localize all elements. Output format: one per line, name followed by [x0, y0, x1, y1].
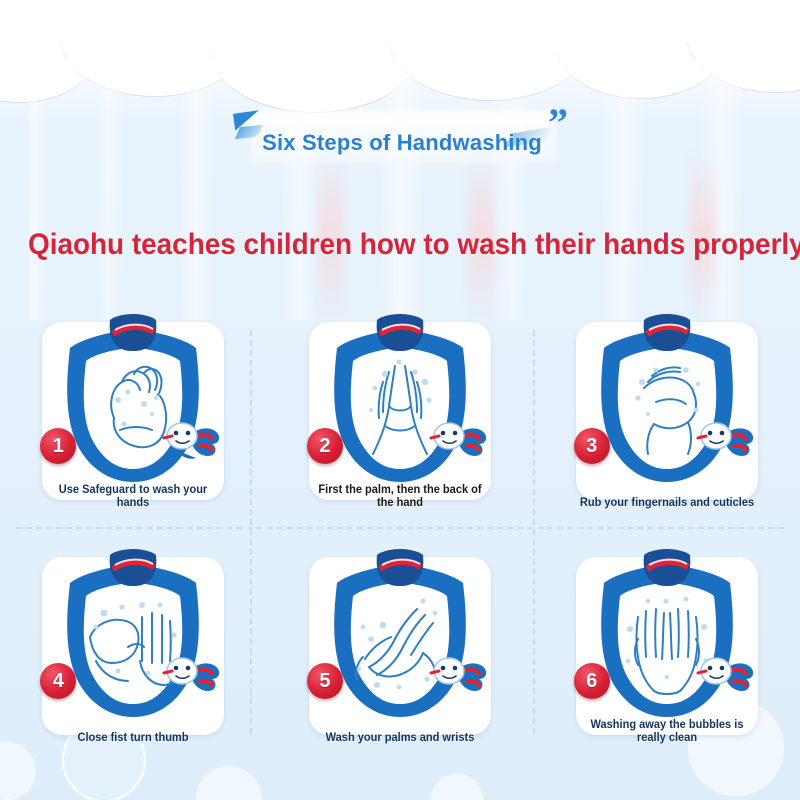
step-card-3[interactable]: 3 Rub your fingernails and cuticles [572, 312, 762, 508]
step-number-badge: 6 [574, 663, 610, 699]
cloud-lobe [210, 0, 420, 112]
safeguard-emblem-icon [639, 312, 695, 352]
step-card-6[interactable]: 6 Washing away the bubbles is really cle… [572, 547, 762, 743]
light-streaks [0, 60, 800, 320]
step-cell-4: 4 Close fist turn thumb [0, 541, 267, 776]
step-number-badge: 1 [40, 428, 76, 464]
qiaohu-mascot-icon [427, 406, 489, 462]
step-caption: Wash your palms and wrists [309, 732, 491, 745]
handwashing-poster: ” Six Steps of Handwashing Qiaohu teache… [0, 0, 800, 800]
qiaohu-mascot-icon [694, 406, 756, 462]
qiaohu-mascot-icon [160, 406, 222, 462]
ribbon-title: Six Steps of Handwashing [232, 130, 572, 156]
step-cell-1: 1 Use Safeguard to wash your hands [0, 306, 267, 541]
step-caption: Rub your fingernails and cuticles [575, 497, 757, 510]
step-cell-2: 2 First the palm, then the back of the h… [267, 306, 534, 541]
step-cell-6: 6 Washing away the bubbles is really cle… [533, 541, 800, 776]
safeguard-emblem-icon [372, 312, 428, 352]
qiaohu-mascot-icon [160, 641, 222, 697]
step-card-4[interactable]: 4 Close fist turn thumb [38, 547, 228, 743]
step-caption: Close fist turn thumb [42, 732, 224, 745]
step-caption: Use Safeguard to wash your hands [42, 484, 224, 510]
step-cell-5: 5 Wash your palms and wrists [267, 541, 534, 776]
safeguard-emblem-icon [105, 547, 161, 587]
step-number-badge: 2 [307, 428, 343, 464]
step-cell-3: 3 Rub your fingernails and cuticles [533, 306, 800, 541]
title-ribbon: ” Six Steps of Handwashing [232, 104, 572, 172]
step-number-badge: 3 [574, 428, 610, 464]
step-number-badge: 5 [307, 663, 343, 699]
safeguard-emblem-icon [639, 547, 695, 587]
qiaohu-mascot-icon [694, 641, 756, 697]
steps-grid: 1 Use Safeguard to wash your hands [0, 306, 800, 776]
step-caption: Washing away the bubbles is really clean [575, 719, 757, 745]
page-title: Qiaohu teaches children how to wash thei… [28, 228, 772, 262]
step-card-5[interactable]: 5 Wash your palms and wrists [305, 547, 495, 743]
safeguard-emblem-icon [105, 312, 161, 352]
step-card-2[interactable]: 2 First the palm, then the back of the h… [305, 312, 495, 508]
step-number-badge: 4 [40, 663, 76, 699]
step-caption: First the palm, then the back of the han… [309, 484, 491, 510]
safeguard-emblem-icon [372, 547, 428, 587]
qiaohu-mascot-icon [427, 641, 489, 697]
step-card-1[interactable]: 1 Use Safeguard to wash your hands [38, 312, 228, 508]
decorative-bubble [430, 774, 484, 800]
